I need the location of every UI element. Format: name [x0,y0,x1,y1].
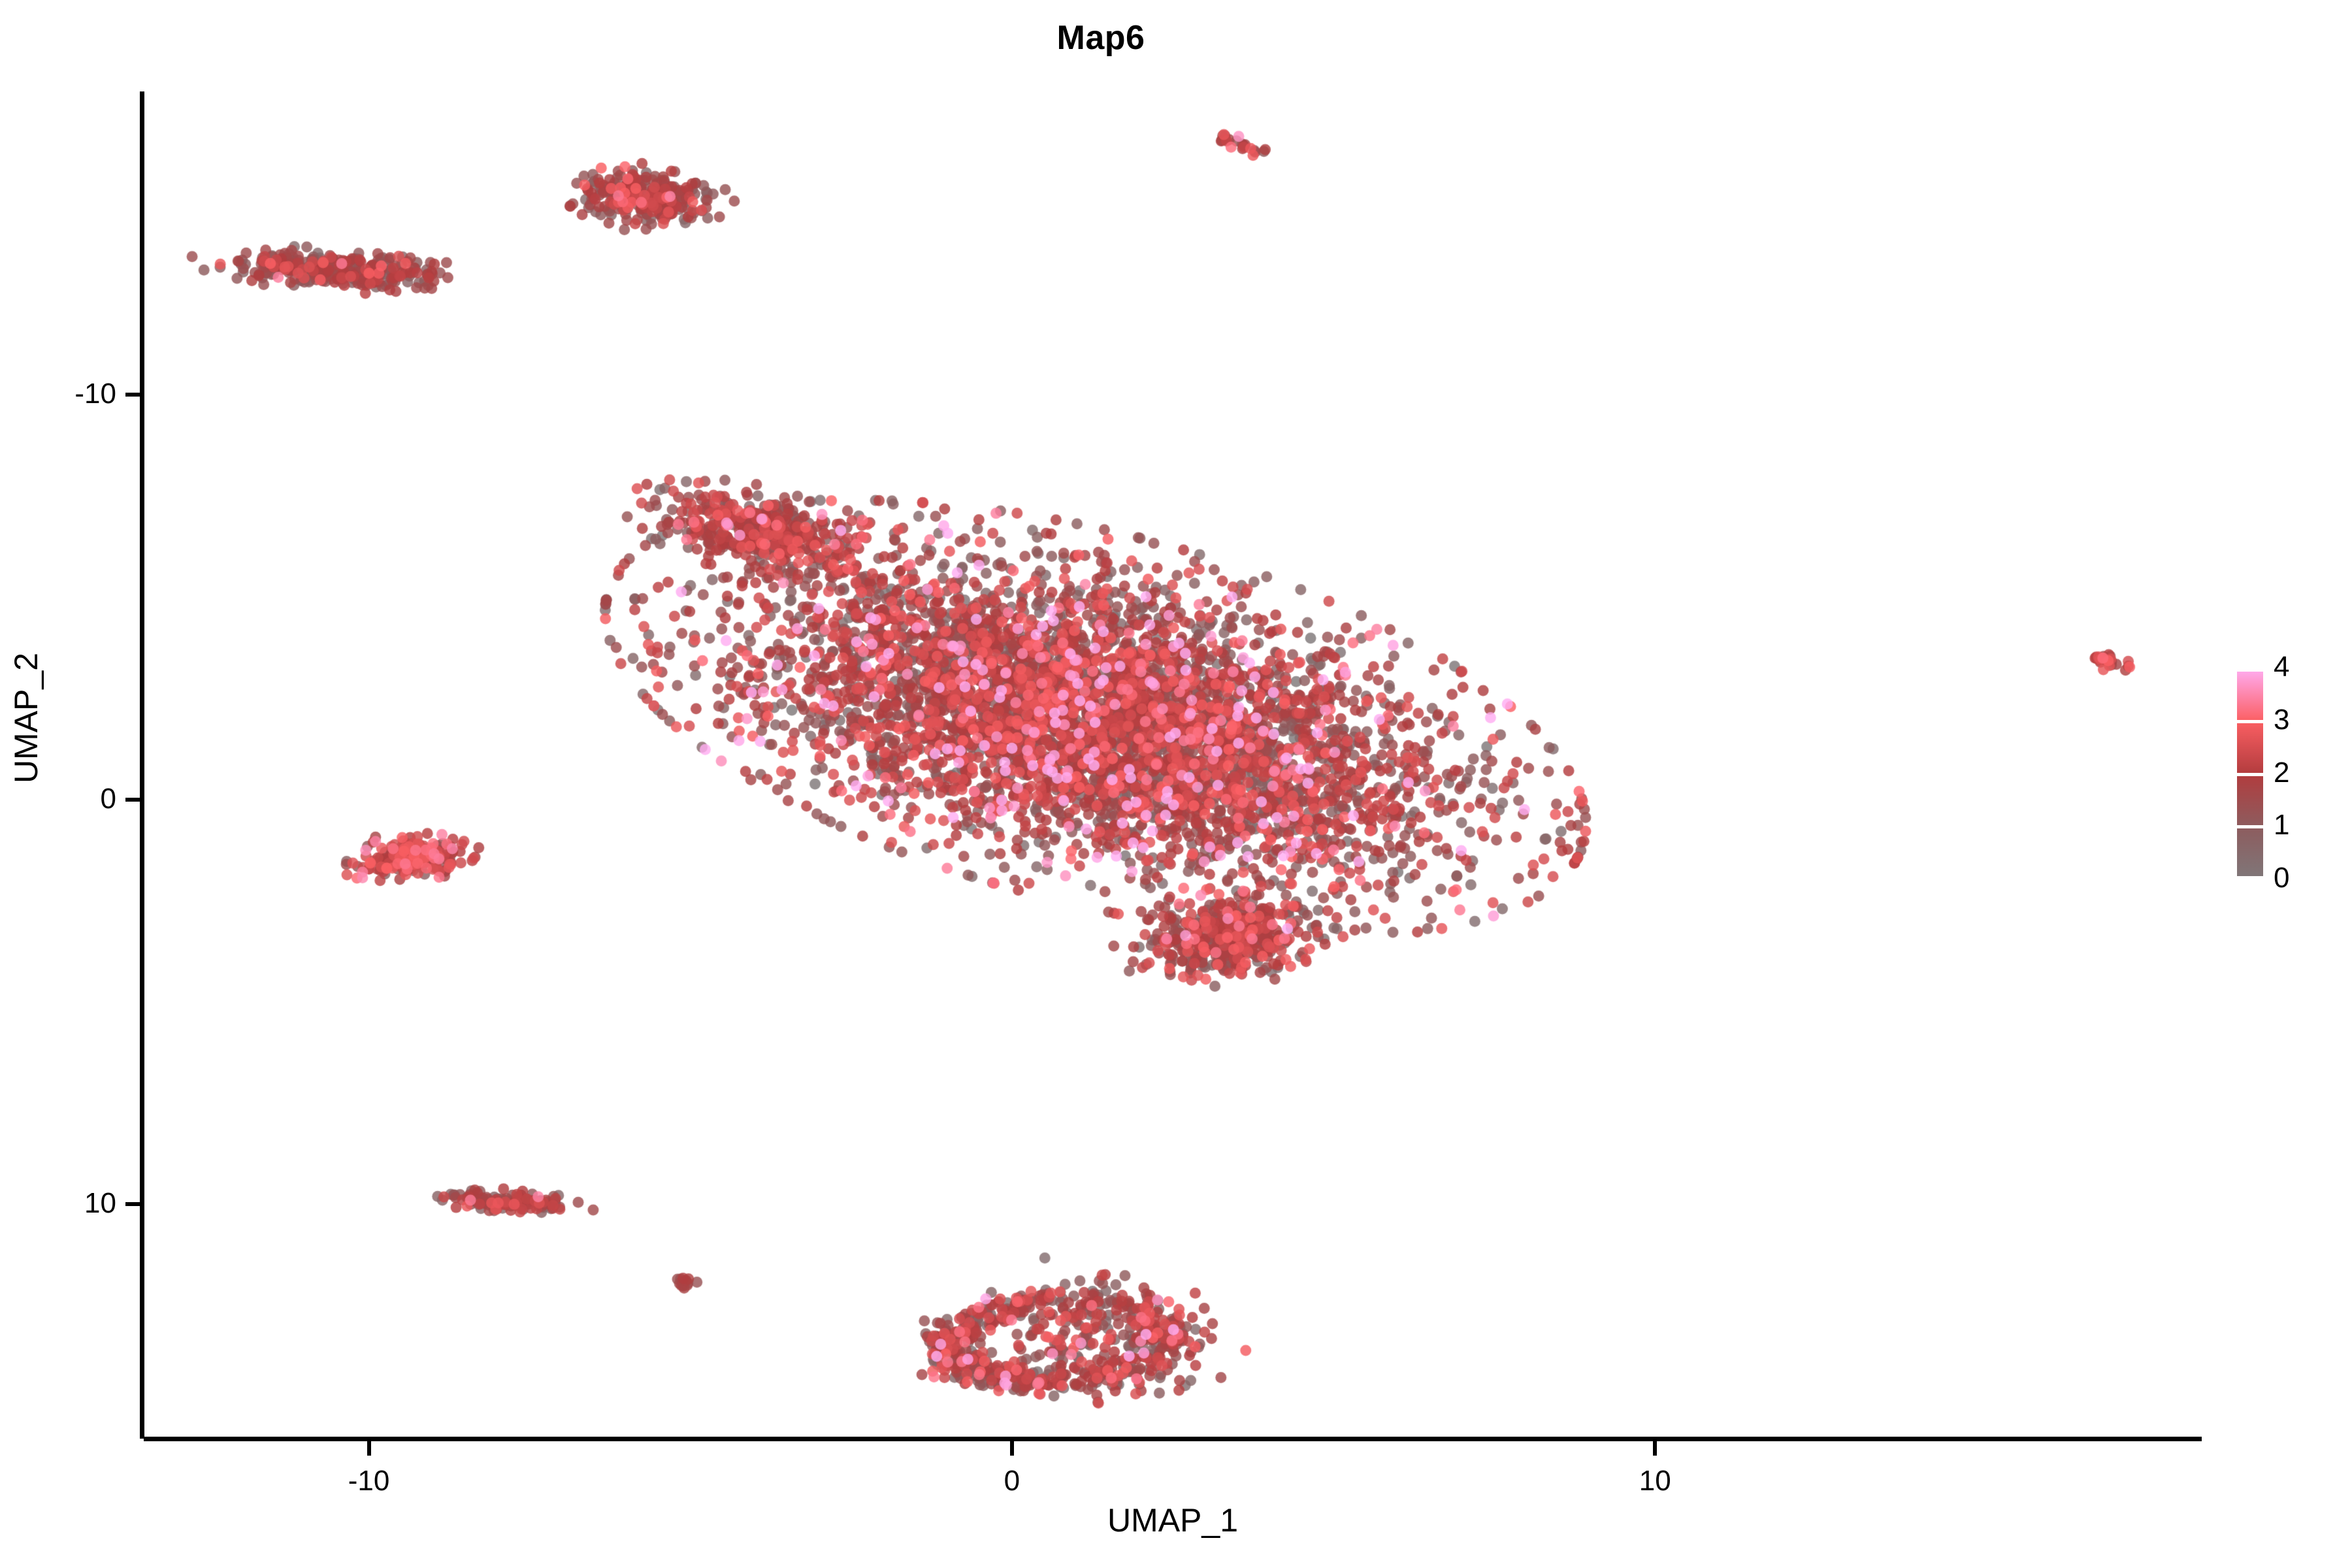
colorbar-legend: 4 3 2 1 0 [2237,668,2335,890]
y-axis-line [140,91,144,1439]
y-axis-tick-0 [125,798,140,802]
colorbar-tick-1 [2237,825,2263,828]
y-axis-tick-10 [125,1202,140,1206]
colorbar-label-2: 2 [2274,759,2289,787]
page-title: Map6 [0,18,2202,57]
x-axis-tick-label-neg10: -10 [297,1465,441,1497]
x-axis-tick-label-10: 10 [1583,1465,1727,1497]
colorbar-label-0: 0 [2274,864,2289,892]
x-axis-tick-10 [1653,1441,1657,1456]
colorbar-label-4: 4 [2274,653,2289,681]
scatter-plot-canvas [144,91,2202,1439]
colorbar-tick-0 [2237,876,2263,879]
y-axis-tick-label-10: 10 [18,1187,116,1220]
colorbar-tick-4 [2237,668,2263,672]
x-axis-tick-0 [1010,1441,1014,1456]
x-axis-line [144,1437,2202,1441]
colorbar-label-3: 3 [2274,706,2289,734]
colorbar-tick-2 [2237,773,2263,776]
umap-plot-figure: Map6 10 0 -10 -10 0 10 UMAP_2 UMAP_1 4 3… [0,0,2352,1568]
colorbar-tick-3 [2237,720,2263,723]
y-axis-title: UMAP_2 [7,620,45,816]
x-axis-tick-neg10 [367,1441,371,1456]
x-axis-title: UMAP_1 [144,1501,2202,1539]
y-axis-tick-label-neg10: -10 [18,378,116,410]
plot-panel [144,91,2202,1439]
x-axis-tick-label-0: 0 [940,1465,1084,1497]
y-axis-tick-neg10 [125,393,140,397]
colorbar-label-1: 1 [2274,811,2289,840]
